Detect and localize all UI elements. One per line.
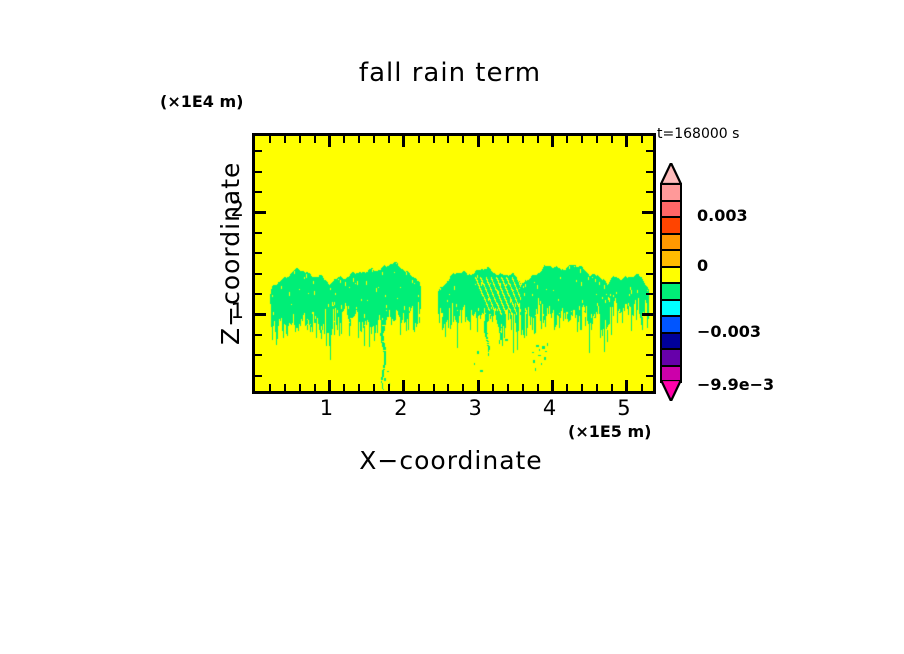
z-tick-right-1.4 <box>646 273 653 275</box>
x-tick-top-2.4 <box>433 136 435 143</box>
z-tick-1.2 <box>255 293 262 295</box>
x-tick-1.6 <box>373 384 375 391</box>
z-tick-2.4 <box>255 171 262 173</box>
x-tick-top-4.8 <box>611 136 613 143</box>
x-tick-5.2 <box>641 384 643 391</box>
colorbar <box>660 183 682 381</box>
z-tick-right-1 <box>642 313 653 316</box>
x-tick-label-3: 3 <box>455 396 495 420</box>
z-tick-right-0.8 <box>646 334 653 336</box>
x-tick-top-3.4 <box>507 136 509 143</box>
x-tick-5 <box>625 380 628 391</box>
x-tick-top-1.2 <box>343 136 345 143</box>
z-tick-0.8 <box>255 334 262 336</box>
z-tick-label-1: 1 <box>222 299 244 323</box>
x-tick-top-5 <box>625 136 628 147</box>
x-tick-top-2.8 <box>462 136 464 143</box>
x-tick-3.4 <box>507 384 509 391</box>
figure-root: fall rain term (×1E4 m) (×1E5 m) t=16800… <box>0 0 904 654</box>
x-tick-0.2 <box>269 384 271 391</box>
z-tick-0.4 <box>255 375 262 377</box>
x-tick-label-4: 4 <box>530 396 570 420</box>
z-tick-label-2: 2 <box>222 197 244 221</box>
x-tick-1.8 <box>388 384 390 391</box>
x-tick-2 <box>402 380 405 391</box>
x-tick-top-0.2 <box>269 136 271 143</box>
x-tick-top-4.6 <box>596 136 598 143</box>
x-tick-top-4 <box>551 136 554 147</box>
x-tick-label-2: 2 <box>381 396 421 420</box>
z-tick-right-1.8 <box>646 232 653 234</box>
z-tick-1.8 <box>255 232 262 234</box>
x-tick-top-1.6 <box>373 136 375 143</box>
colorbar-top-arrow-icon <box>660 163 682 184</box>
x-tick-top-0.8 <box>314 136 316 143</box>
z-tick-0.6 <box>255 354 262 356</box>
z-tick-right-2.2 <box>646 191 653 193</box>
x-tick-top-2 <box>402 136 405 147</box>
z-tick-right-0.6 <box>646 354 653 356</box>
x-tick-label-5: 5 <box>604 396 644 420</box>
x-tick-label-1: 1 <box>306 396 346 420</box>
colorbar-label-1: 0 <box>697 256 708 275</box>
field-heatmap <box>255 136 653 391</box>
z-tick-2 <box>255 211 266 214</box>
z-tick-right-1.2 <box>646 293 653 295</box>
x-tick-3.8 <box>537 384 539 391</box>
x-tick-2.8 <box>462 384 464 391</box>
x-tick-4.2 <box>566 384 568 391</box>
x-tick-0.6 <box>299 384 301 391</box>
colorbar-label-2: −0.003 <box>697 322 761 341</box>
x-tick-top-1 <box>328 136 331 147</box>
x-tick-4.4 <box>581 384 583 391</box>
x-tick-top-3.6 <box>522 136 524 143</box>
x-tick-top-4.4 <box>581 136 583 143</box>
plot-area <box>252 133 656 394</box>
x-tick-4.6 <box>596 384 598 391</box>
x-tick-top-1.4 <box>358 136 360 143</box>
x-tick-top-3.8 <box>537 136 539 143</box>
x-tick-2.2 <box>418 384 420 391</box>
z-tick-2.2 <box>255 191 262 193</box>
x-tick-1.4 <box>358 384 360 391</box>
x-tick-3.6 <box>522 384 524 391</box>
x-tick-4.8 <box>611 384 613 391</box>
z-tick-right-2 <box>642 211 653 214</box>
figure-title-text: fall rain term <box>359 58 541 88</box>
x-tick-3 <box>477 380 480 391</box>
x-tick-top-1.8 <box>388 136 390 143</box>
z-tick-1.6 <box>255 252 262 254</box>
z-tick-right-2.4 <box>646 171 653 173</box>
z-tick-1 <box>255 313 266 316</box>
y-axis-unit-label: (×1E4 m) <box>160 92 243 111</box>
x-axis-unit-label: (×1E5 m) <box>568 422 651 441</box>
colorbar-label-3: −9.9e−3 <box>697 375 774 394</box>
x-tick-2.4 <box>433 384 435 391</box>
colorbar-label-0: 0.003 <box>697 206 748 225</box>
x-axis-title: X−coordinate <box>252 446 650 475</box>
x-tick-4 <box>551 380 554 391</box>
x-tick-top-0.6 <box>299 136 301 143</box>
z-tick-right-1.6 <box>646 252 653 254</box>
z-tick-2.6 <box>255 150 262 152</box>
x-tick-top-0.4 <box>284 136 286 143</box>
colorbar-bottom-arrow-icon <box>660 380 682 401</box>
x-tick-1 <box>328 380 331 391</box>
x-tick-3.2 <box>492 384 494 391</box>
z-tick-1.4 <box>255 273 262 275</box>
x-tick-top-3.2 <box>492 136 494 143</box>
x-tick-0.4 <box>284 384 286 391</box>
x-tick-top-4.2 <box>566 136 568 143</box>
z-tick-right-0.4 <box>646 375 653 377</box>
x-tick-1.2 <box>343 384 345 391</box>
x-tick-top-2.2 <box>418 136 420 143</box>
z-tick-right-2.6 <box>646 150 653 152</box>
x-tick-top-2.6 <box>447 136 449 143</box>
figure-title: fall rain term <box>0 58 904 88</box>
x-tick-top-3 <box>477 136 480 147</box>
x-tick-0.8 <box>314 384 316 391</box>
x-tick-2.6 <box>447 384 449 391</box>
x-tick-top-5.2 <box>641 136 643 143</box>
timestamp-annotation: t=168000 s <box>657 126 739 142</box>
